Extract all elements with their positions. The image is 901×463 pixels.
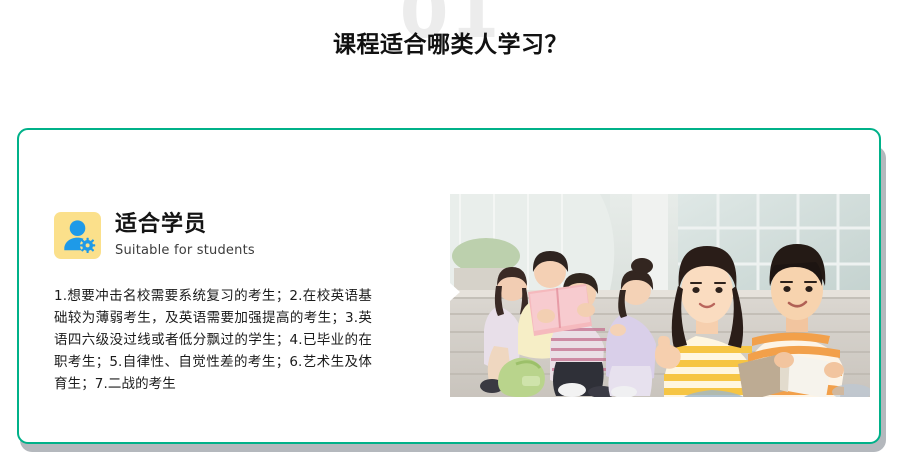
- students-on-campus-steps-photo: [450, 194, 870, 397]
- section-subtitle: Suitable for students: [115, 243, 255, 259]
- section-title: 适合学员: [115, 212, 255, 237]
- suitable-students-card: 适合学员 Suitable for students 1.想要冲击名校需要系统复…: [17, 128, 881, 444]
- section-heading-text: 适合学员 Suitable for students: [115, 212, 255, 259]
- section-body-text: 1.想要冲击名校需要系统复习的考生；2.在校英语基础较为薄弱考生，及英语需要加强…: [54, 285, 372, 395]
- page-header: 01 课程适合哪类人学习？: [0, 0, 901, 100]
- photo-left-notch-icon: [450, 283, 460, 301]
- section-heading-row: 适合学员 Suitable for students: [54, 212, 414, 259]
- card-left-column: 适合学员 Suitable for students 1.想要冲击名校需要系统复…: [54, 212, 414, 395]
- page-title: 课程适合哪类人学习？: [0, 32, 901, 60]
- user-gear-icon: [54, 212, 101, 259]
